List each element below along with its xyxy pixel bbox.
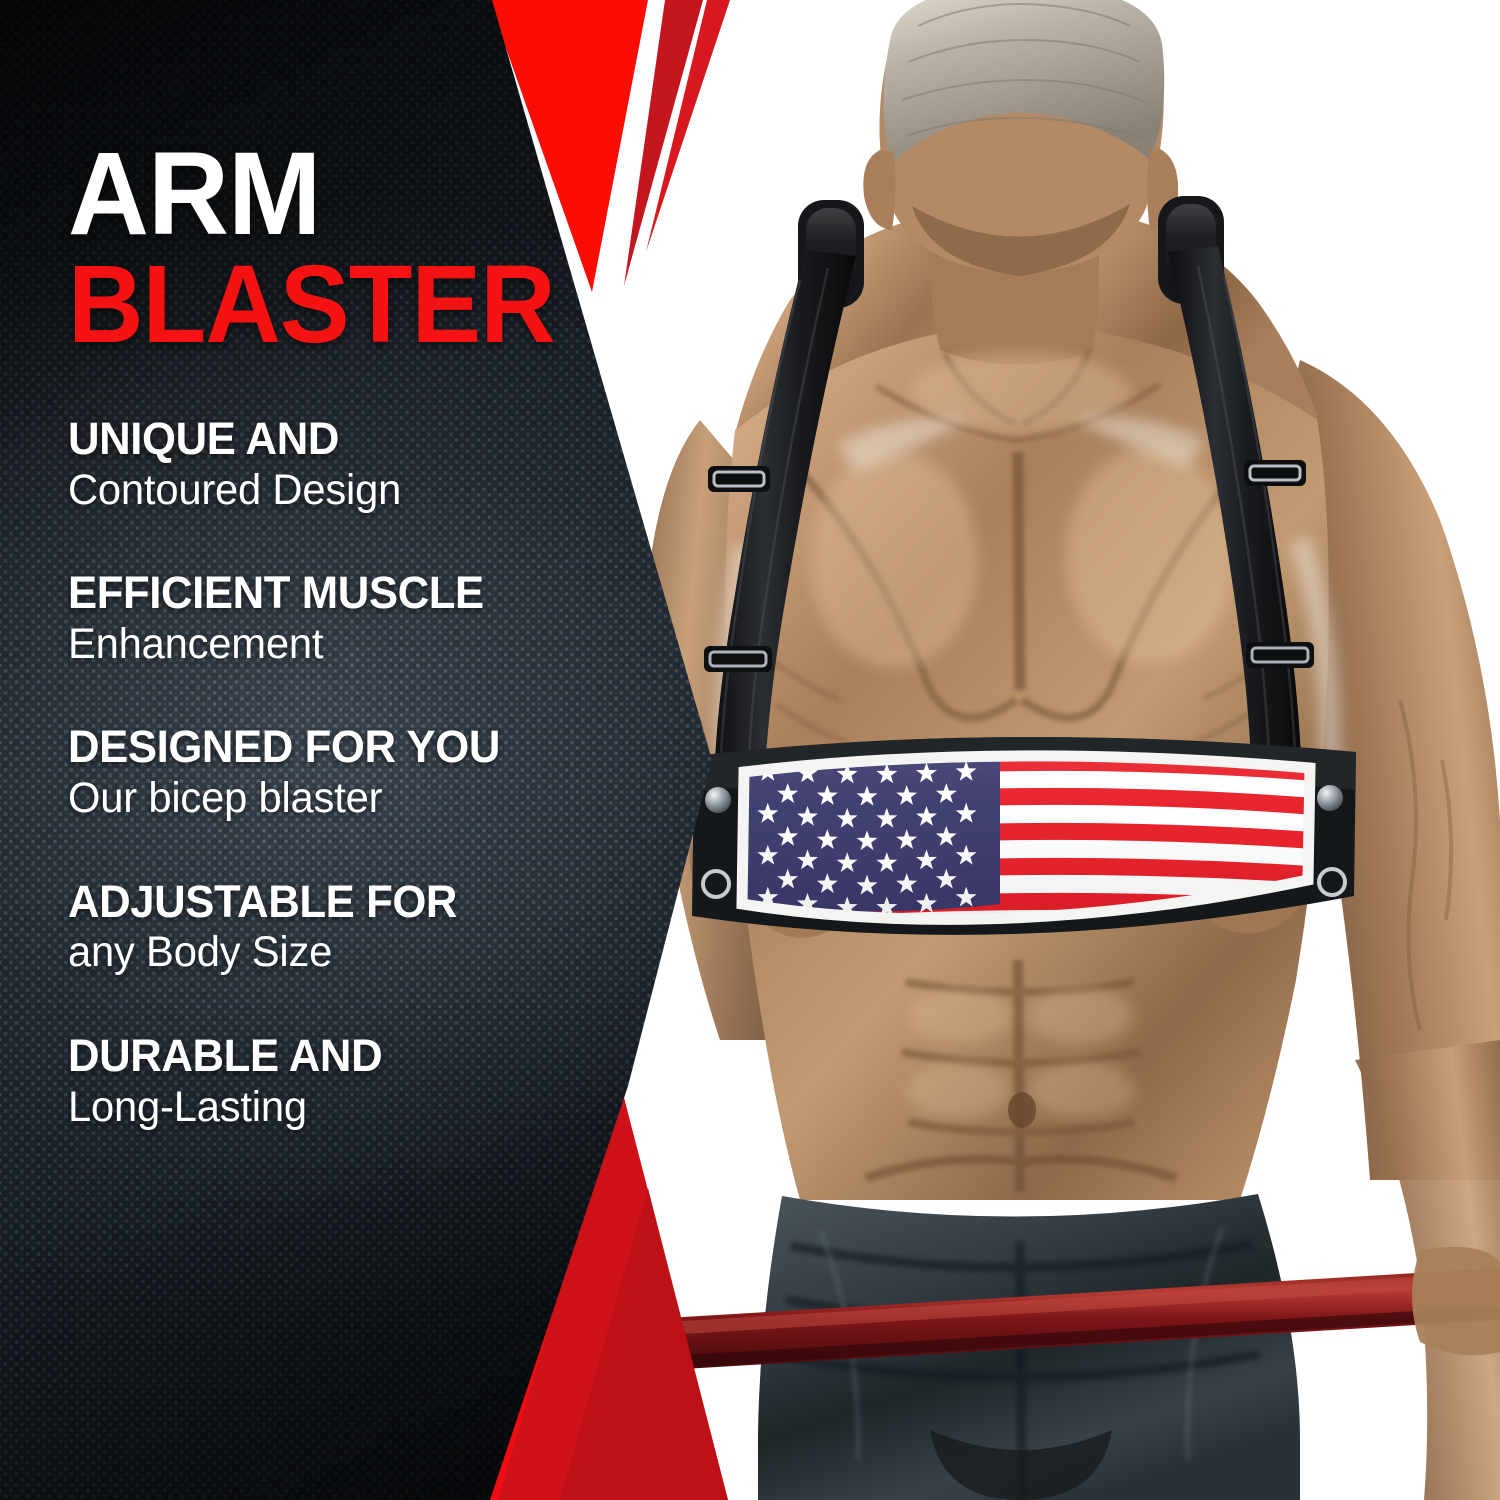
feature-subline-3: any Body Size (68, 929, 739, 976)
panel-content: ARM BLASTER UNIQUE AND Contoured Design … (0, 0, 760, 1500)
product-listing-image: ARM BLASTER UNIQUE AND Contoured Design … (0, 0, 1500, 1500)
feature-item-3: ADJUSTABLE FOR any Body Size (68, 879, 760, 977)
feature-headline-4: DURABLE AND (68, 1033, 739, 1079)
feature-headline-3: ADJUSTABLE FOR (68, 879, 739, 925)
rivet-right-top (1317, 785, 1343, 811)
product-title-line-1: ARM (68, 140, 725, 250)
feature-list: UNIQUE AND Contoured Design EFFICIENT MU… (68, 416, 760, 1131)
strap-buckle-right (1244, 460, 1306, 486)
product-title-line-2: BLASTER (68, 254, 725, 356)
product-title: ARM BLASTER (68, 140, 760, 356)
feature-headline-2: DESIGNED FOR YOU (68, 724, 739, 770)
strap-buckle-right-lower (1246, 642, 1314, 668)
feature-item-4: DURABLE AND Long-Lasting (68, 1033, 760, 1131)
feature-subline-2: Our bicep blaster (68, 775, 739, 822)
feature-item-0: UNIQUE AND Contoured Design (68, 416, 760, 514)
feature-headline-0: UNIQUE AND (68, 416, 739, 462)
feature-subline-0: Contoured Design (68, 467, 739, 514)
feature-subline-4: Long-Lasting (68, 1084, 739, 1131)
feature-item-1: EFFICIENT MUSCLE Enhancement (68, 570, 760, 668)
feature-subline-1: Enhancement (68, 621, 739, 668)
feature-item-2: DESIGNED FOR YOU Our bicep blaster (68, 724, 760, 822)
feature-headline-1: EFFICIENT MUSCLE (68, 570, 739, 616)
